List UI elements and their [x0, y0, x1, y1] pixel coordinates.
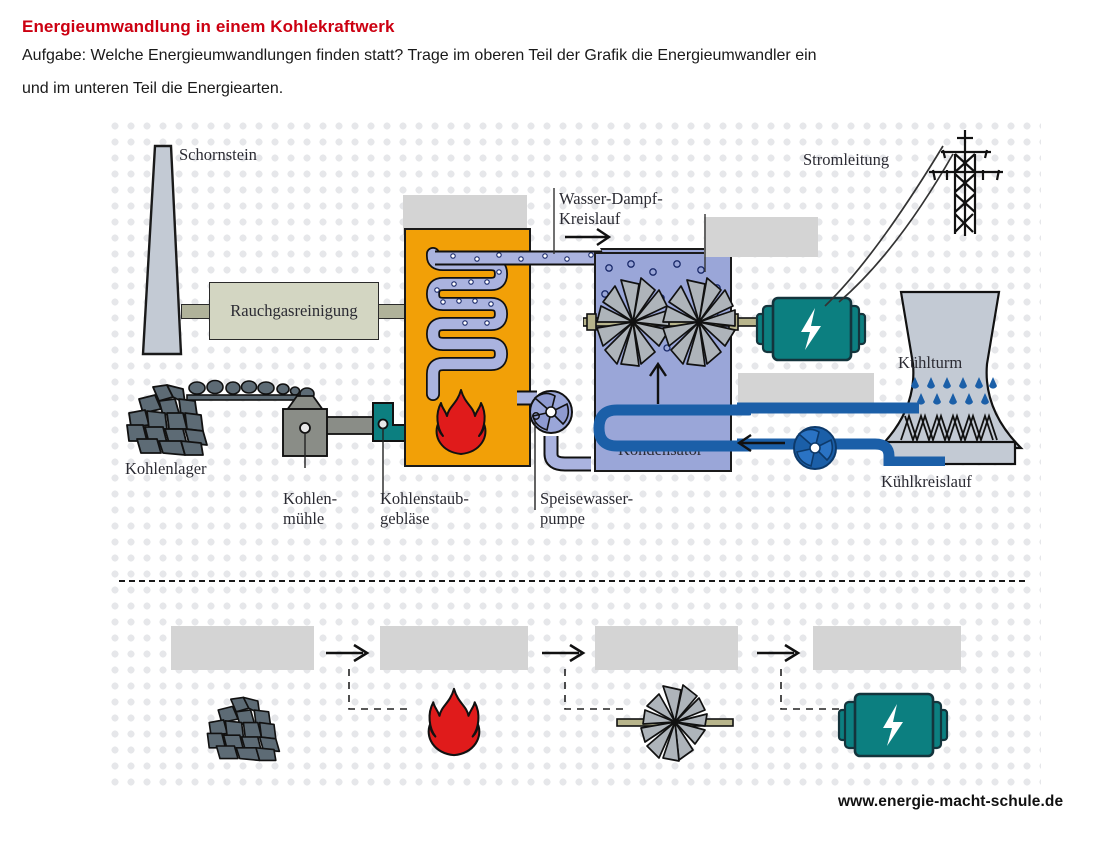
chimney-label: Schornstein — [179, 145, 257, 165]
feedwater-pump-label: Speisewasser- pumpe — [540, 489, 633, 529]
bottom-arrow-2-icon — [541, 642, 589, 664]
bottom-arrow-3-icon — [756, 642, 804, 664]
coal-dust-blower-label: Kohlenstaub- gebläse — [380, 489, 469, 529]
page-title: Energieumwandlung in einem Kohlekraftwer… — [22, 17, 395, 37]
bottom-arrow-1-icon — [325, 642, 373, 664]
chimney-icon — [133, 142, 203, 362]
cooling-pump-icon — [789, 422, 841, 474]
turbine-placeholder[interactable] — [704, 217, 818, 257]
energy-box-1[interactable] — [171, 626, 314, 670]
coal-storage-label: Kohlenlager — [125, 459, 207, 479]
generator-icon — [831, 686, 959, 766]
turbine-wheel-1-icon — [595, 276, 671, 372]
energy-box-4[interactable] — [813, 626, 961, 670]
dashed-connector-1 — [343, 669, 409, 717]
flame-icon — [433, 388, 489, 456]
coal-mill-label: Kohlen- mühle — [283, 489, 337, 529]
power-line-label: Stromleitung — [803, 150, 889, 170]
cooling-tower-label: Kühlturm — [898, 353, 962, 373]
worksheet-page: Energieumwandlung in einem Kohlekraftwer… — [0, 0, 1112, 849]
turbine-wheel-2-icon — [661, 276, 737, 372]
flame-icon — [425, 686, 483, 758]
flue-gas-cleaning-label: Rauchgasreinigung — [210, 283, 378, 339]
power-pylon-icon — [915, 128, 1015, 238]
energy-box-3[interactable] — [595, 626, 738, 670]
section-divider — [119, 580, 1025, 582]
cooling-circuit-label: Kühlkreislauf — [881, 472, 972, 492]
diagram-canvas: Schornstein Rauchgasreinigung — [103, 114, 1041, 792]
energy-box-2[interactable] — [380, 626, 528, 670]
task-text-line-2: und im unteren Teil die Energiearten. — [22, 80, 283, 98]
flue-gas-cleaning-box: Rauchgasreinigung — [209, 282, 379, 340]
coal-icon — [203, 692, 291, 764]
turbine-leader-line — [695, 214, 715, 274]
steam-flow-arrow-icon — [563, 226, 623, 248]
turbine-icon — [613, 684, 737, 762]
cooling-flow-arrow-icon — [733, 432, 787, 454]
task-text-line-1: Aufgabe: Welche Energieumwandlungen find… — [22, 47, 817, 65]
footer-url: www.energie-macht-schule.de — [838, 793, 1063, 811]
generator-placeholder[interactable] — [738, 373, 874, 403]
